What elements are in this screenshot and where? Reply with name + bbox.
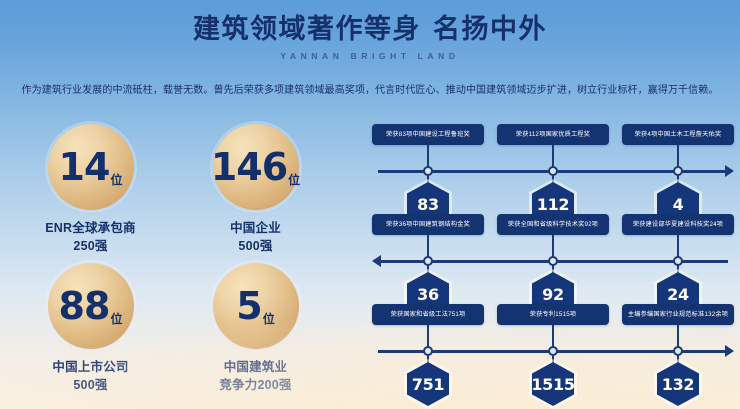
stat-label: 中国企业 500强 xyxy=(230,219,281,255)
stat-label: 中国上市公司 500强 xyxy=(52,358,128,394)
timeline-node[interactable]: 荣获112项国家优质工程奖 112 xyxy=(497,124,609,145)
page-title: 建筑领域著作等身名扬中外 xyxy=(0,12,740,46)
award-caption: 荣获112项国家优质工程奖 xyxy=(497,124,609,145)
promo-banner: 建筑领域著作等身名扬中外 YANNAN BRIGHT LAND 作为建筑行业发展… xyxy=(0,0,740,409)
timeline-node[interactable]: 荣获全国和省级科学技术奖92项 92 xyxy=(497,214,609,235)
stat-label-line1: ENR全球承包商 xyxy=(45,219,136,237)
arrow-right-icon xyxy=(725,165,734,177)
stat-coin: 88 位 xyxy=(48,263,134,349)
stat-unit: 位 xyxy=(110,171,122,188)
award-caption: 荣获36项中国建筑钢结构金奖 xyxy=(372,214,484,235)
stat-label-line2: 500强 xyxy=(230,237,281,255)
stat-coin: 5 位 xyxy=(213,263,299,349)
timeline-node[interactable]: 荣获83项中国建设工程鲁班奖 83 xyxy=(372,124,484,145)
arrow-right-icon xyxy=(725,345,734,357)
stat-number: 14 xyxy=(59,148,110,186)
stat-coin: 146 位 xyxy=(213,124,299,210)
award-caption: 荣获专利1515项 xyxy=(497,304,609,325)
award-caption: 荣获83项中国建设工程鲁班奖 xyxy=(372,124,484,145)
stats-grid: 14 位 ENR全球承包商 250强 146 位 中国企业 500强 88 位 xyxy=(8,124,338,394)
page-title-part1: 建筑领域著作等身 xyxy=(193,14,421,44)
timeline-node[interactable]: 荣获国家和省级工法751项 751 xyxy=(372,304,484,325)
stat-label-line1: 中国企业 xyxy=(230,219,281,237)
award-caption: 主编参编国家行业规范标准132余项 xyxy=(622,304,734,325)
timeline-node[interactable]: 荣获专利1515项 1515 xyxy=(497,304,609,325)
stat-item: 88 位 中国上市公司 500强 xyxy=(8,263,173,394)
award-caption: 荣获全国和省级科学技术奖92项 xyxy=(497,214,609,235)
stat-label-line1: 中国上市公司 xyxy=(52,358,128,376)
page-title-part2: 名扬中外 xyxy=(433,14,547,44)
stat-number: 88 xyxy=(59,287,110,325)
stat-coin: 14 位 xyxy=(48,124,134,210)
timeline-row: 荣获国家和省级工法751项 751 荣获专利1515项 1515 主编参编国家行… xyxy=(372,304,734,394)
header: 建筑领域著作等身名扬中外 YANNAN BRIGHT LAND xyxy=(0,12,740,61)
arrow-left-icon xyxy=(372,255,381,267)
timeline-row: 荣获83项中国建设工程鲁班奖 83 荣获112项国家优质工程奖 112 荣获4项… xyxy=(372,124,734,214)
awards-timeline: 荣获83项中国建设工程鲁班奖 83 荣获112项国家优质工程奖 112 荣获4项… xyxy=(372,124,734,394)
brand-subtitle: YANNAN BRIGHT LAND xyxy=(0,51,740,61)
stat-item: 5 位 中国建筑业 竞争力200强 xyxy=(173,263,338,394)
stat-item: 146 位 中国企业 500强 xyxy=(173,124,338,255)
award-caption: 荣获建设部华夏建设科技奖24项 xyxy=(622,214,734,235)
timeline-node[interactable]: 荣获建设部华夏建设科技奖24项 24 xyxy=(622,214,734,235)
award-caption: 荣获国家和省级工法751项 xyxy=(372,304,484,325)
stat-label-line2: 250强 xyxy=(45,237,136,255)
stat-label-line2: 500强 xyxy=(52,376,128,394)
intro-paragraph: 作为建筑行业发展的中流砥柱，载誉无数。曾先后荣获多项建筑领域最高奖项，代言时代匠… xyxy=(0,84,740,98)
stat-label: 中国建筑业 竞争力200强 xyxy=(219,358,291,394)
award-caption: 荣获4项中国土木工程詹天佑奖 xyxy=(622,124,734,145)
stat-label: ENR全球承包商 250强 xyxy=(45,219,136,255)
stat-item: 14 位 ENR全球承包商 250强 xyxy=(8,124,173,255)
stat-unit: 位 xyxy=(288,171,300,188)
stat-label-line1: 中国建筑业 xyxy=(219,358,291,376)
stat-unit: 位 xyxy=(263,310,275,327)
stat-number: 146 xyxy=(211,148,287,186)
timeline-row: 荣获36项中国建筑钢结构金奖 36 荣获全国和省级科学技术奖92项 92 荣获建… xyxy=(372,214,734,304)
stat-unit: 位 xyxy=(110,310,122,327)
timeline-node[interactable]: 荣获4项中国土木工程詹天佑奖 4 xyxy=(622,124,734,145)
timeline-node[interactable]: 主编参编国家行业规范标准132余项 132 xyxy=(622,304,734,325)
stat-label-line2: 竞争力200强 xyxy=(219,376,291,394)
timeline-node[interactable]: 荣获36项中国建筑钢结构金奖 36 xyxy=(372,214,484,235)
stat-number: 5 xyxy=(236,287,261,325)
